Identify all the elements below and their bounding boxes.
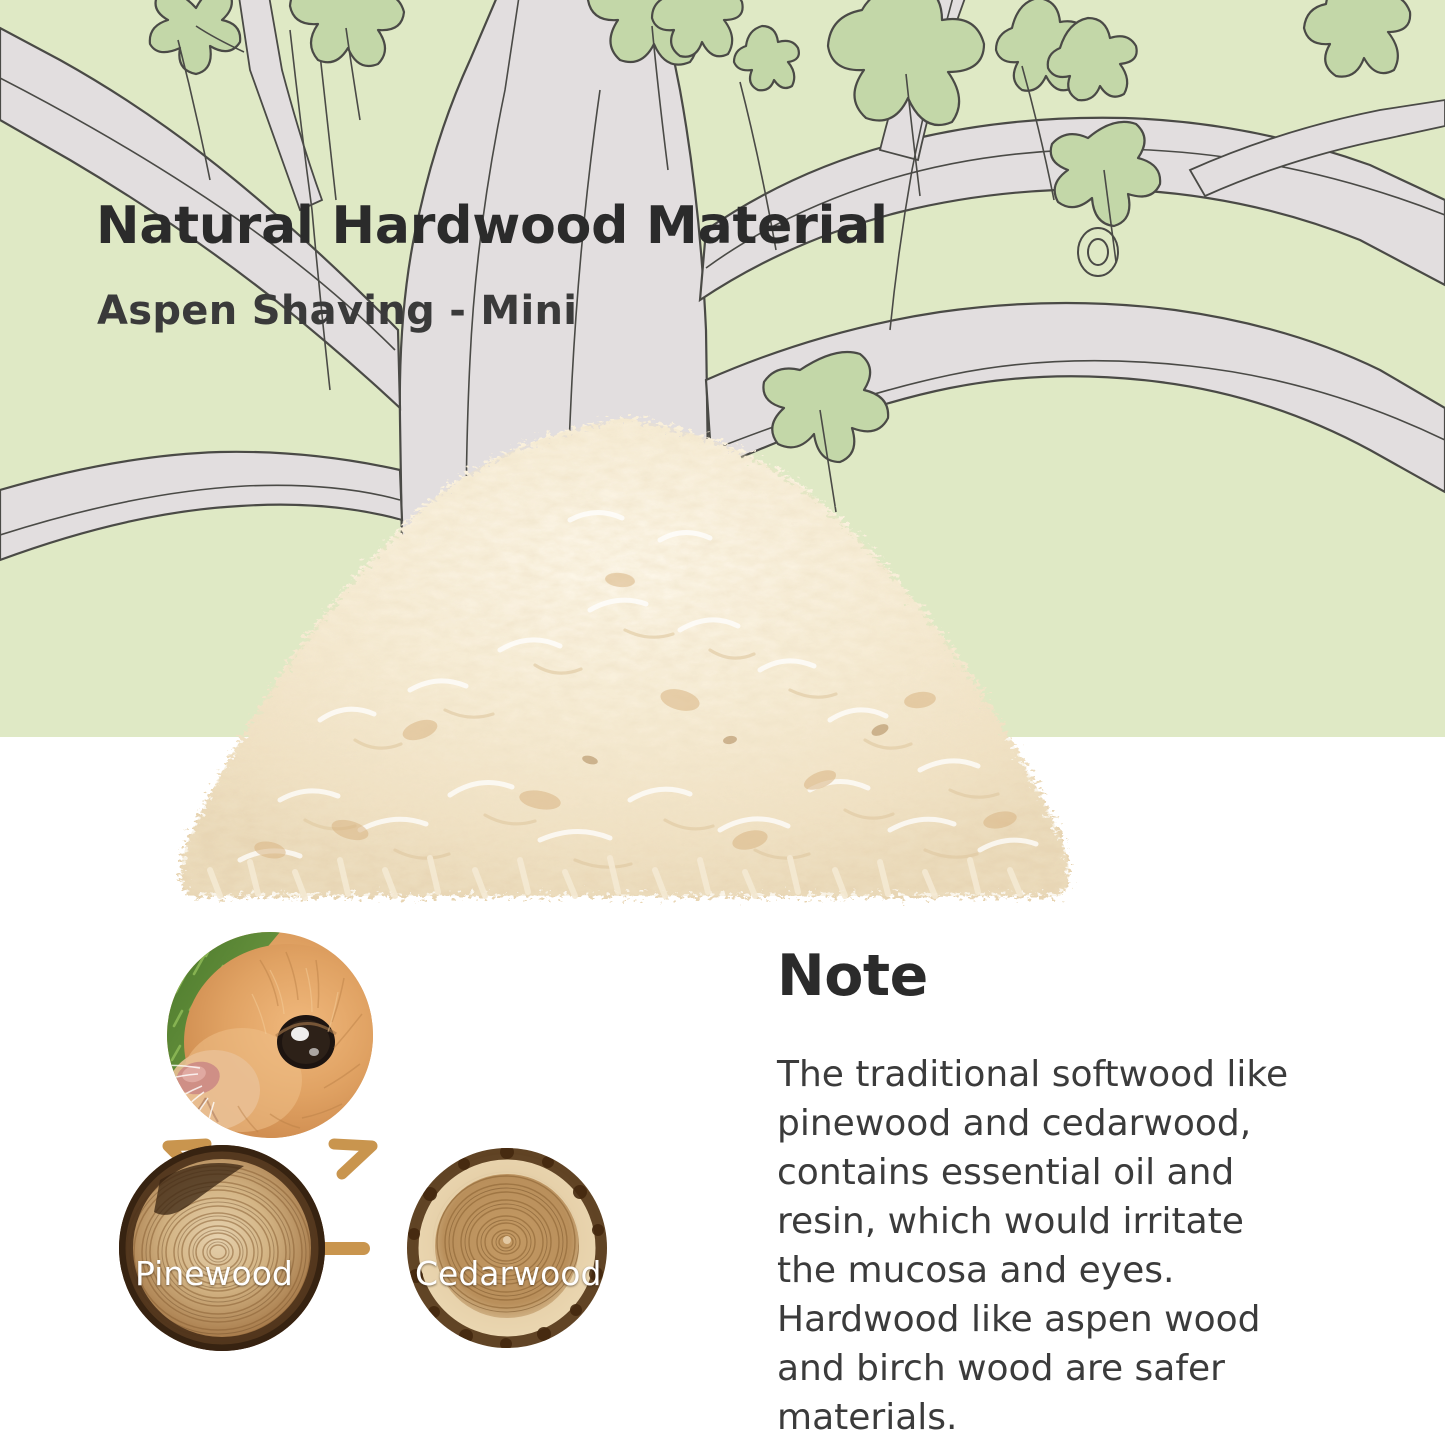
wood-label-pinewood: Pinewood: [135, 1254, 293, 1293]
note-heading: Note: [777, 948, 928, 1005]
hamster-photo: [152, 932, 392, 1150]
pinewood-image: [119, 1145, 325, 1351]
wood-label-cedarwood: Cedarwood: [415, 1254, 601, 1293]
wood-comparison-diagram: [110, 930, 670, 1370]
cedarwood-image: [407, 1145, 607, 1350]
page-subtitle: Aspen Shaving - Mini: [97, 288, 577, 334]
arrow-cedarwood-to-hamster: [334, 1144, 372, 1174]
product-photo-wood-shavings: [120, 400, 1130, 925]
note-body-text: The traditional softwood like pinewood a…: [777, 1050, 1304, 1442]
page-title: Natural Hardwood Material: [96, 196, 888, 256]
